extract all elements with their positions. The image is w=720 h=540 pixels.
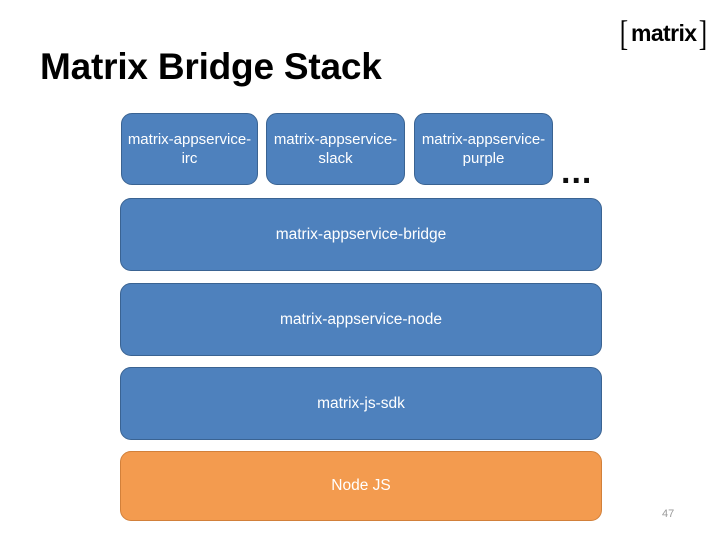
stack-layer-label: matrix-js-sdk [317,394,405,414]
ellipsis-more-indicator: ... [561,155,592,189]
stack-layer-label: matrix-appservice-bridge [276,225,447,245]
stack-box-appservice-purple: matrix-appservice-purple [414,113,553,185]
stack-box-appservice-slack: matrix-appservice-slack [266,113,405,185]
slide-canvas: [ matrix ] Matrix Bridge Stack matrix-ap… [0,0,720,540]
stack-layer-appservice-bridge: matrix-appservice-bridge [120,198,602,271]
logo-left-bracket: [ [620,18,628,48]
stack-layer-appservice-node: matrix-appservice-node [120,283,602,356]
page-number: 47 [662,508,674,520]
stack-box-label: matrix-appservice-irc [122,130,257,168]
stack-box-appservice-irc: matrix-appservice-irc [121,113,258,185]
stack-layer-node-js: Node JS [120,451,602,521]
logo-right-bracket: ] [699,18,707,48]
stack-layer-matrix-js-sdk: matrix-js-sdk [120,367,602,440]
logo-wordmark: matrix [630,18,697,48]
stack-box-label: matrix-appservice-purple [415,130,552,168]
stack-layer-label: matrix-appservice-node [280,310,442,330]
stack-layer-label: Node JS [331,476,390,496]
matrix-logo: [ matrix ] [618,17,709,49]
page-title: Matrix Bridge Stack [40,46,382,88]
stack-box-label: matrix-appservice-slack [267,130,404,168]
